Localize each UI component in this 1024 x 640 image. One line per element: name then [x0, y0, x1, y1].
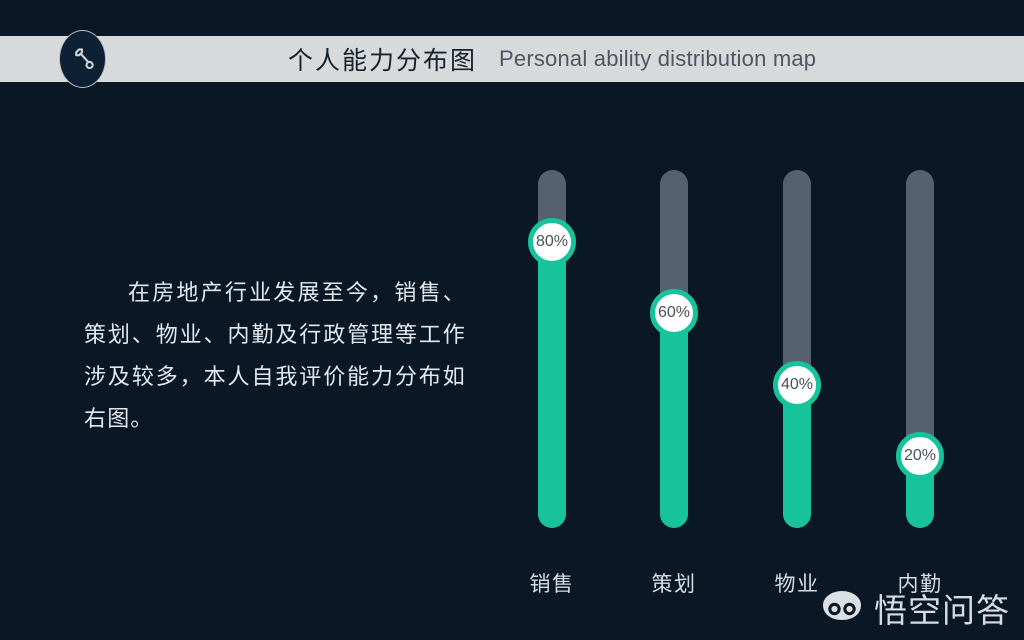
title-cn: 个人能力分布图	[288, 41, 477, 77]
ability-distribution-chart: 80% 销售 60% 策划 40% 物业 20% 内勤	[500, 150, 1000, 590]
watermark: 悟空问答	[820, 584, 1010, 632]
title-en: Personal ability distribution map	[499, 46, 816, 72]
slider-knob[interactable]: 40%	[773, 361, 821, 409]
slide-root: 个人能力分布图 Personal ability distribution ma…	[0, 0, 1024, 640]
page-title: 个人能力分布图 Personal ability distribution ma…	[288, 36, 816, 82]
category-label: 策划	[652, 568, 697, 598]
category-label: 销售	[530, 568, 575, 598]
slider-value-label: 60%	[658, 304, 690, 322]
watermark-text: 悟空问答	[874, 584, 1010, 632]
slider-2[interactable]: 40% 物业	[783, 170, 811, 528]
slider-value-label: 20%	[904, 447, 936, 465]
slider-1[interactable]: 60% 策划	[660, 170, 688, 528]
slider-value-label: 40%	[781, 376, 813, 394]
slider-fill	[660, 313, 688, 528]
slider-knob[interactable]: 80%	[528, 218, 576, 266]
slider-3[interactable]: 20% 内勤	[906, 170, 934, 528]
slider-knob[interactable]: 60%	[650, 289, 698, 337]
slider-0[interactable]: 80% 销售	[538, 170, 566, 528]
wukong-logo-icon	[820, 590, 864, 627]
category-label: 物业	[775, 568, 820, 598]
slider-knob[interactable]: 20%	[896, 432, 944, 480]
slider-value-label: 80%	[536, 233, 568, 251]
wrench-icon	[59, 30, 106, 88]
body-paragraph: 在房地产行业发展至今，销售、策划、物业、内勤及行政管理等工作涉及较多，本人自我评…	[84, 272, 466, 440]
slider-fill	[538, 242, 566, 528]
